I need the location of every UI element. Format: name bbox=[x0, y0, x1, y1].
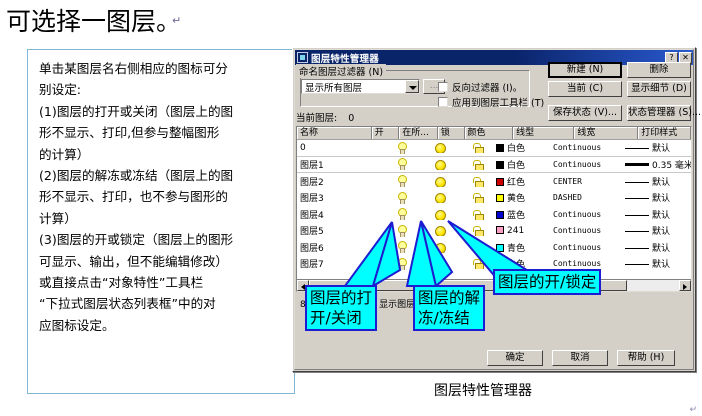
notes-line: 形不显示、打印，也不参与图形的 bbox=[39, 186, 285, 207]
bottom-paragraph-mark: ↵ bbox=[689, 405, 697, 415]
lock-icon[interactable] bbox=[473, 142, 483, 153]
save-state-button[interactable]: 保存状态 (V)... bbox=[548, 105, 622, 121]
cell-linetype[interactable]: DASHED bbox=[550, 193, 622, 202]
callout-open-close: 图层的打 开/关闭 bbox=[305, 285, 377, 331]
cell-on[interactable] bbox=[385, 142, 417, 154]
cell-color[interactable]: 蓝色 bbox=[493, 208, 550, 221]
chevron-down-icon[interactable] bbox=[405, 80, 419, 93]
ok-button[interactable]: 确定 bbox=[487, 350, 543, 366]
layer-list-header[interactable]: 名称开在所...锁颜色线型线宽打印样式 bbox=[297, 127, 691, 140]
bulb-icon[interactable] bbox=[397, 208, 406, 220]
cell-layer-name[interactable]: 图层1 bbox=[297, 158, 385, 171]
cell-freeze[interactable] bbox=[417, 242, 462, 253]
lineweight-sample-icon bbox=[625, 248, 649, 249]
column-header-color[interactable]: 颜色 bbox=[465, 127, 514, 139]
cell-on[interactable] bbox=[385, 192, 417, 204]
scroll-right-icon[interactable] bbox=[679, 280, 691, 291]
notes-textbox: 单击某图层名右侧相应的图标可分 别设定: (1)图层的打开或关闭（图层上的图 形… bbox=[27, 49, 295, 394]
notes-line: (1)图层的打开或关闭（图层上的图 bbox=[39, 101, 285, 122]
cell-color[interactable]: 白色 bbox=[493, 158, 550, 171]
lineweight-sample-icon bbox=[625, 231, 649, 232]
state-manager-button[interactable]: 状态管理器 (S)... bbox=[627, 105, 691, 121]
column-header-pstyle[interactable]: 打印样式 bbox=[638, 127, 691, 139]
table-row[interactable]: 图层4蓝色Continuous默认Color_5 bbox=[297, 206, 691, 223]
cell-lock[interactable] bbox=[462, 176, 493, 187]
callout-line: 开/关闭 bbox=[310, 308, 372, 328]
cell-lineweight[interactable]: 默认 bbox=[622, 224, 692, 237]
apply-to-toolbar-checkbox-row[interactable]: 应用到图层工具栏 (T) bbox=[438, 95, 544, 109]
column-header-ltype[interactable]: 线型 bbox=[513, 127, 574, 139]
color-swatch-icon bbox=[496, 260, 504, 268]
cell-freeze[interactable] bbox=[417, 192, 462, 203]
lineweight-sample-icon bbox=[625, 163, 649, 166]
cell-linetype[interactable]: Continuous bbox=[550, 210, 622, 219]
paragraph-mark: ↵ bbox=[172, 14, 181, 27]
cell-freeze[interactable] bbox=[417, 176, 462, 187]
cell-layer-name[interactable]: 图层3 bbox=[297, 191, 385, 204]
checkbox-icon[interactable] bbox=[438, 82, 448, 92]
lineweight-sample-icon bbox=[625, 148, 649, 149]
column-header-name[interactable]: 名称 bbox=[297, 127, 372, 139]
cell-lock[interactable] bbox=[462, 209, 493, 220]
cell-lineweight[interactable]: 默认 bbox=[622, 191, 692, 204]
current-layer-value: 0 bbox=[348, 113, 354, 124]
named-filter-label: 命名图层过滤器 (N) bbox=[296, 64, 386, 78]
current-layer-label: 当前图层: bbox=[296, 113, 337, 124]
cell-layer-name[interactable]: 0 bbox=[297, 143, 385, 153]
lock-icon[interactable] bbox=[473, 176, 483, 187]
color-swatch-icon bbox=[496, 211, 504, 219]
cell-on[interactable] bbox=[385, 208, 417, 220]
cell-lineweight[interactable]: 默认 bbox=[622, 241, 692, 254]
callout-line: 图层的解 bbox=[418, 288, 480, 308]
cell-layer-name[interactable]: 图层7 bbox=[297, 257, 385, 270]
help-button[interactable]: 帮助 (H) bbox=[617, 350, 675, 366]
lineweight-sample-icon bbox=[625, 215, 649, 216]
notes-line: 或直接点击“对象特性”工具栏 bbox=[39, 272, 285, 293]
column-header-on[interactable]: 开 bbox=[372, 127, 400, 139]
bulb-icon[interactable] bbox=[397, 142, 406, 154]
column-header-lock[interactable]: 锁 bbox=[438, 127, 465, 139]
cell-linetype[interactable]: Continuous bbox=[550, 160, 622, 169]
callout-line: 冻/冻结 bbox=[418, 308, 480, 328]
cell-color[interactable]: 241 bbox=[493, 226, 550, 236]
notes-line: 的计算） bbox=[39, 144, 285, 165]
notes-line: 形不显示、打印,但参与整幅图形 bbox=[39, 122, 285, 143]
cell-lock[interactable] bbox=[462, 258, 493, 269]
color-swatch-icon bbox=[496, 244, 504, 252]
color-swatch-icon bbox=[496, 194, 504, 202]
show-details-button[interactable]: 显示细节 (D) bbox=[627, 81, 691, 97]
cell-linetype[interactable]: Continuous bbox=[550, 143, 622, 152]
sun-icon[interactable] bbox=[434, 176, 445, 187]
bulb-icon[interactable] bbox=[397, 192, 406, 204]
bulb-icon[interactable] bbox=[397, 158, 406, 170]
new-layer-button[interactable]: 新建 (N) bbox=[548, 62, 622, 78]
color-swatch-icon bbox=[496, 178, 504, 186]
table-row[interactable]: 图层1白色Continuous0.35 毫米Color_7 bbox=[297, 157, 691, 174]
table-row[interactable]: 图层6青色Continuous默认Color_4 bbox=[297, 239, 691, 256]
cell-color[interactable]: 青色 bbox=[493, 241, 550, 254]
cell-on[interactable] bbox=[385, 175, 417, 187]
cell-lineweight[interactable]: 默认 bbox=[622, 141, 692, 154]
cell-color[interactable]: 黄色 bbox=[493, 191, 550, 204]
cell-lock[interactable] bbox=[462, 242, 493, 253]
lock-icon[interactable] bbox=[473, 242, 483, 253]
cell-lineweight[interactable]: 0.35 毫米 bbox=[622, 158, 692, 171]
delete-layer-button[interactable]: 删除 bbox=[627, 62, 691, 78]
layer-filter-combobox[interactable]: 显示所有图层 bbox=[301, 79, 420, 94]
cell-on[interactable] bbox=[385, 158, 417, 170]
bulb-icon[interactable] bbox=[397, 175, 406, 187]
lock-icon[interactable] bbox=[473, 209, 483, 220]
column-header-freeze[interactable]: 在所... bbox=[399, 127, 438, 139]
cell-freeze[interactable] bbox=[417, 225, 462, 236]
cell-layer-name[interactable]: 图层5 bbox=[297, 224, 385, 237]
callout-line: 图层的开/锁定 bbox=[498, 272, 596, 292]
lineweight-sample-icon bbox=[625, 182, 649, 183]
color-swatch-icon bbox=[496, 226, 504, 234]
notes-line: (2)图层的解冻或冻结（图层上的图 bbox=[39, 165, 285, 186]
notes-line: 应图标设定。 bbox=[39, 315, 285, 336]
table-row[interactable]: 图层3黄色DASHED默认Color_2 bbox=[297, 190, 691, 207]
lineweight-sample-icon bbox=[625, 264, 649, 265]
cell-linetype[interactable]: Continuous bbox=[550, 243, 622, 252]
layer-list[interactable]: 名称开在所...锁颜色线型线宽打印样式 0白色Continuous默认Color… bbox=[296, 126, 692, 292]
sun-icon[interactable] bbox=[434, 242, 445, 253]
dialog-title: 图层特性管理器 bbox=[311, 51, 379, 65]
cell-lineweight[interactable]: 默认 bbox=[622, 175, 692, 188]
cell-on[interactable] bbox=[385, 258, 417, 270]
cell-freeze[interactable] bbox=[417, 209, 462, 220]
layer-list-body[interactable]: 0白色Continuous默认Color_7图层1白色Continuous0.3… bbox=[297, 140, 691, 272]
cell-linetype[interactable]: Continuous bbox=[550, 259, 622, 268]
notes-line: 可显示、输出，但不能编辑修改） bbox=[39, 251, 285, 272]
cell-lock[interactable] bbox=[462, 192, 493, 203]
sun-icon[interactable] bbox=[434, 209, 445, 220]
sun-icon[interactable] bbox=[434, 258, 445, 269]
sun-icon[interactable] bbox=[434, 225, 445, 236]
cell-freeze[interactable] bbox=[417, 258, 462, 269]
invert-filter-checkbox-row[interactable]: 反向过滤器 (I)。 bbox=[438, 80, 522, 94]
cell-lock[interactable] bbox=[462, 225, 493, 236]
lock-icon[interactable] bbox=[473, 192, 483, 203]
table-row[interactable]: 0白色Continuous默认Color_7 bbox=[297, 140, 691, 157]
cell-layer-name[interactable]: 图层6 bbox=[297, 241, 385, 254]
bulb-icon[interactable] bbox=[397, 241, 406, 253]
cell-lineweight[interactable]: 默认 bbox=[622, 208, 692, 221]
color-swatch-icon bbox=[496, 144, 504, 152]
cell-layer-name[interactable]: 图层4 bbox=[297, 208, 385, 221]
cell-on[interactable] bbox=[385, 241, 417, 253]
apply-to-toolbar-label: 应用到图层工具栏 (T) bbox=[452, 95, 544, 109]
cell-color[interactable]: 白色 bbox=[493, 141, 550, 154]
lock-icon[interactable] bbox=[473, 258, 483, 269]
sun-icon[interactable] bbox=[434, 192, 445, 203]
lock-icon[interactable] bbox=[473, 159, 483, 170]
notes-line: (3)图层的开或锁定（图层上的图形 bbox=[39, 229, 285, 250]
bulb-icon[interactable] bbox=[397, 225, 406, 237]
notes-line: 别设定: bbox=[39, 79, 285, 100]
bulb-icon[interactable] bbox=[397, 258, 406, 270]
cell-linetype[interactable]: CENTER bbox=[550, 177, 622, 186]
figure-caption: 图层特性管理器 bbox=[434, 380, 532, 400]
cell-lock[interactable] bbox=[462, 142, 493, 153]
notes-line: 计算） bbox=[39, 208, 285, 229]
invert-filter-label: 反向过滤器 (I)。 bbox=[452, 80, 522, 94]
callout-line: 图层的打 bbox=[310, 288, 372, 308]
cell-on[interactable] bbox=[385, 225, 417, 237]
cancel-button[interactable]: 取消 bbox=[552, 350, 608, 366]
lineweight-sample-icon bbox=[625, 198, 649, 199]
cell-freeze[interactable] bbox=[417, 142, 462, 153]
callout-unlock-lock: 图层的开/锁定 bbox=[493, 269, 601, 295]
cell-lineweight[interactable]: 默认 bbox=[622, 257, 692, 270]
callout-thaw-freeze: 图层的解 冻/冻结 bbox=[413, 285, 485, 331]
cell-color[interactable]: 红色 bbox=[493, 175, 550, 188]
cell-layer-name[interactable]: 图层2 bbox=[297, 175, 385, 188]
table-row[interactable]: 图层5241Continuous默认Color_241 bbox=[297, 223, 691, 240]
set-current-button[interactable]: 当前 (C) bbox=[548, 81, 622, 97]
sun-icon[interactable] bbox=[434, 142, 445, 153]
layer-filter-value: 显示所有图层 bbox=[302, 80, 362, 94]
color-swatch-icon bbox=[496, 161, 504, 169]
cell-freeze[interactable] bbox=[417, 159, 462, 170]
column-header-lwt[interactable]: 线宽 bbox=[574, 127, 638, 139]
layers-icon bbox=[297, 52, 308, 63]
cell-linetype[interactable]: Continuous bbox=[550, 226, 622, 235]
cell-lock[interactable] bbox=[462, 159, 493, 170]
notes-line: “下拉式图层状态列表框”中的对 bbox=[39, 293, 285, 314]
page-title: 可选择一图层。 bbox=[6, 2, 181, 38]
notes-line: 单击某图层名右侧相应的图标可分 bbox=[39, 58, 285, 79]
lock-icon[interactable] bbox=[473, 225, 483, 236]
table-row[interactable]: 图层2红色CENTER默认Color_1 bbox=[297, 173, 691, 190]
sun-icon[interactable] bbox=[434, 159, 445, 170]
current-layer-info: 当前图层: 0 bbox=[296, 110, 354, 124]
checkbox-icon[interactable] bbox=[438, 97, 448, 107]
